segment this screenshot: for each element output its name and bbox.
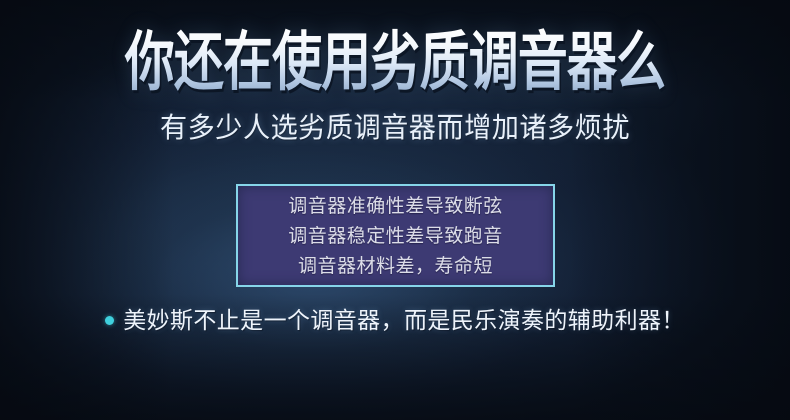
pain-point-line-1: 调音器准确性差导致断弦 <box>288 192 503 222</box>
claim-row: 美妙斯不止是一个调音器，而是民乐演奏的辅助利器！ <box>0 305 790 335</box>
headline-text: 你还在使用劣质调音器么 <box>87 27 703 97</box>
pain-point-line-3: 调音器材料差，寿命短 <box>298 252 493 282</box>
promo-banner: 你还在使用劣质调音器么 有多少人选劣质调音器而增加诸多烦扰 调音器准确性差导致断… <box>0 0 790 420</box>
pain-points-callout-box: 调音器准确性差导致断弦 调音器稳定性差导致跑音 调音器材料差，寿命短 <box>236 184 555 287</box>
pain-point-line-2: 调音器稳定性差导致跑音 <box>288 222 503 252</box>
claim-text: 美妙斯不止是一个调音器，而是民乐演奏的辅助利器！ <box>123 305 685 335</box>
bullet-dot-icon <box>105 316 114 325</box>
subtitle-text: 有多少人选劣质调音器而增加诸多烦扰 <box>12 110 778 146</box>
banner-content: 你还在使用劣质调音器么 有多少人选劣质调音器而增加诸多烦扰 调音器准确性差导致断… <box>0 0 790 420</box>
